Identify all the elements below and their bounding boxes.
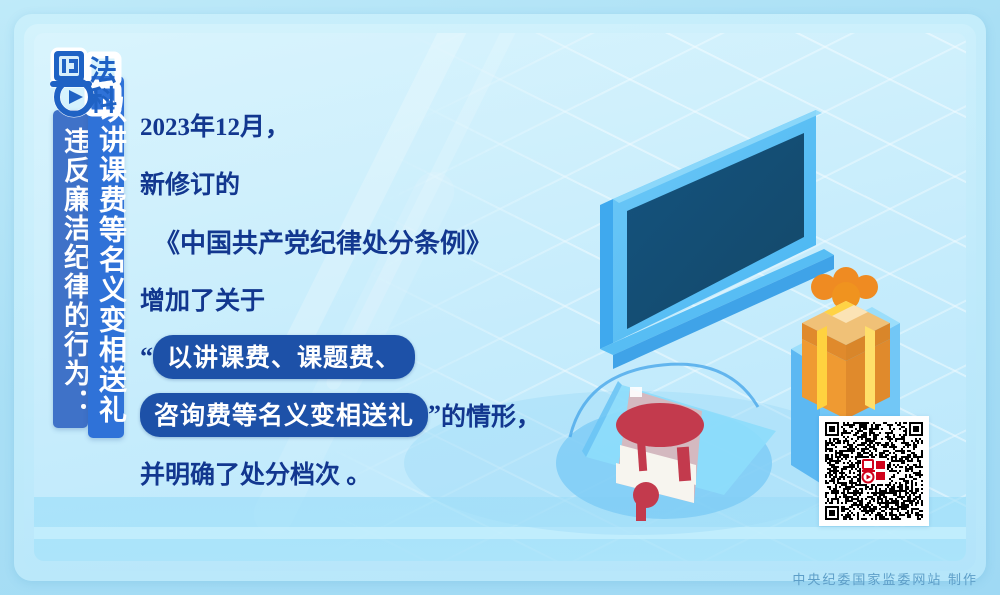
copy-line-7-text: 并明确了处分档次 。	[140, 455, 371, 491]
blackboard	[600, 110, 834, 369]
brand-logo-mark: 法 科	[48, 47, 124, 119]
copy-line-6-tail: 的情形，	[441, 397, 541, 433]
copy-line-1-text: 2023年12月，	[140, 107, 290, 143]
qr-center-logo-mark	[861, 458, 887, 484]
copy-line-2-text: 新修订的	[140, 165, 240, 201]
copy-line-3: 《中国共产党纪律处分条例》	[140, 212, 560, 270]
qr-code[interactable]	[819, 416, 929, 526]
gift-box	[802, 267, 890, 419]
quote-open: “	[140, 342, 153, 372]
category-banner: 违反廉洁纪律的行为：	[53, 110, 88, 428]
logo-glyph-fa: 法	[89, 55, 117, 87]
logo-glyph-ke: 科	[89, 85, 117, 117]
copy-line-1: 2023年12月，	[140, 96, 560, 154]
highlight-pill-1: 以讲课费、课题费、	[153, 335, 415, 379]
poster-canvas: 法 科 违反廉洁纪律的行为： 以讲课费等名义变相送礼 2023年12月， 新修订…	[0, 0, 1000, 595]
copy-line-4: 增加了关于	[140, 270, 560, 328]
copy-line-3-text: 《中国共产党纪律处分条例》	[154, 223, 492, 260]
quote-close: ”	[428, 400, 441, 430]
copy-line-7: 并明确了处分档次 。	[140, 444, 560, 502]
highlight-pill-2: 咨询费等名义变相送礼	[140, 393, 428, 437]
copy-line-4-text: 增加了关于	[140, 281, 265, 317]
body-copy: 2023年12月， 新修订的 《中国共产党纪律处分条例》 增加了关于 “ 以讲课…	[140, 96, 560, 502]
qr-center-logo	[861, 458, 887, 484]
footer-credit: 中央纪委国家监委网站 制作	[792, 569, 978, 588]
copy-line-2: 新修订的	[140, 154, 560, 212]
copy-line-5: “ 以讲课费、课题费、	[140, 328, 560, 386]
topic-banner: 以讲课费等名义变相送礼	[88, 76, 124, 438]
brand-logo[interactable]: 法 科	[48, 47, 124, 119]
copy-line-6: 咨询费等名义变相送礼 ” 的情形，	[140, 386, 560, 444]
